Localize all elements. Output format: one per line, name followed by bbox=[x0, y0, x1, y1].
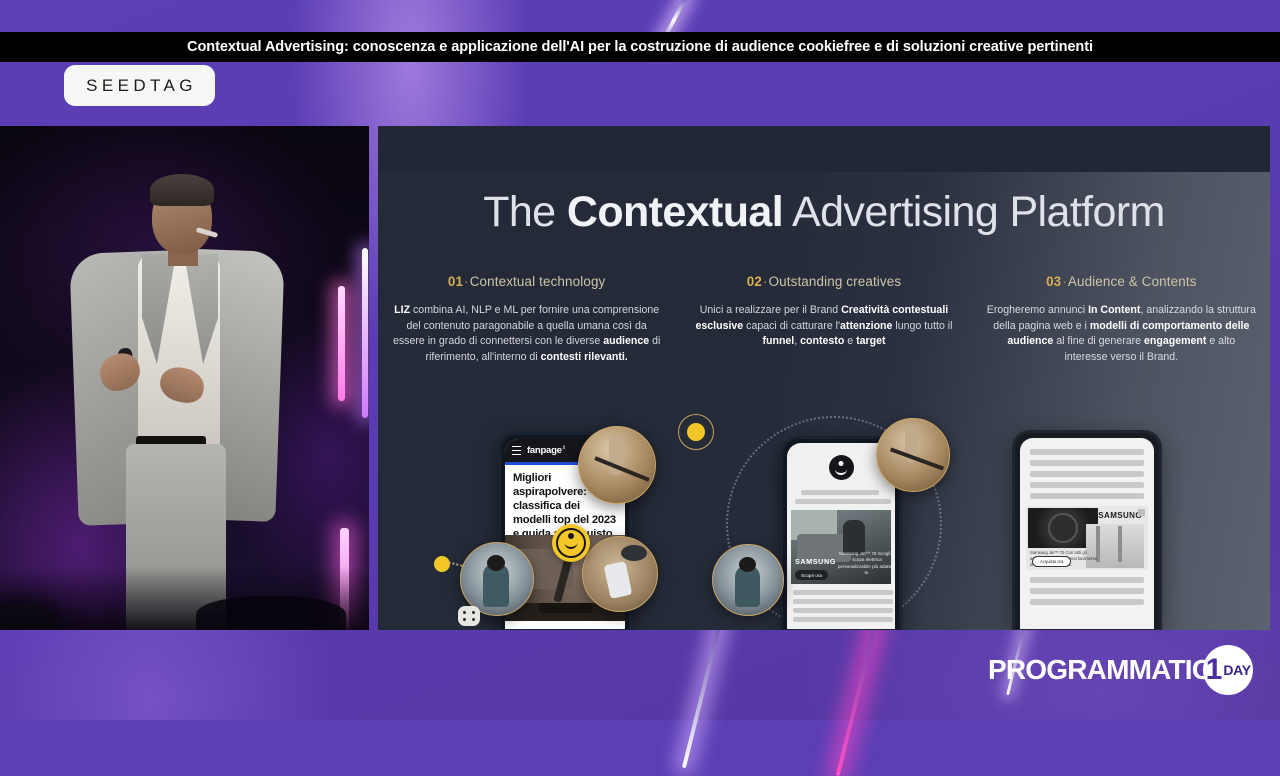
stage-floor-shadow bbox=[0, 566, 369, 630]
publisher-logo-text: fanpage.it bbox=[527, 445, 565, 456]
context-bubble-person-cleaning-2 bbox=[712, 544, 784, 616]
slide-title-bold: Contextual bbox=[567, 188, 783, 236]
content-skeleton-line bbox=[1030, 493, 1144, 499]
seedtag-logo-text: SEEDTAG bbox=[82, 76, 197, 96]
ad-cta-button[interactable]: Acquista ora bbox=[1032, 556, 1071, 567]
slide-column-2: 02·Outstanding creatives Unici a realizz… bbox=[675, 274, 972, 394]
ad-vacuum-shape-b bbox=[1118, 526, 1122, 562]
programmatic-day-logo: PROGRAMMATIC 1 DAY bbox=[988, 648, 1253, 692]
slide-column-3-number: 03 bbox=[1046, 274, 1061, 289]
slide-column-3-heading: 03·Audience & Contents bbox=[987, 274, 1256, 289]
slide-column-1-number: 01 bbox=[448, 274, 463, 289]
content-skeleton-line bbox=[1030, 599, 1144, 605]
ad-person-shape bbox=[843, 520, 865, 554]
slide-column-2-heading: 02·Outstanding creatives bbox=[689, 274, 958, 289]
presentation-slide-panel[interactable]: The Contextual Advertising Platform 01·C… bbox=[378, 126, 1270, 630]
photo-vacuum-head-shape bbox=[539, 603, 593, 613]
slide-content: The Contextual Advertising Platform 01·C… bbox=[378, 126, 1270, 630]
speaker-figure bbox=[0, 126, 369, 630]
content-skeleton-line bbox=[1030, 482, 1144, 488]
bubble-robot-vacuum-shape bbox=[621, 545, 647, 561]
slide-column-3-title: Audience & Contents bbox=[1068, 274, 1197, 289]
neon-streak-bottom-white-1 bbox=[682, 622, 722, 769]
neon-streak-bottom-pink bbox=[836, 620, 879, 776]
slide-column-1-separator: · bbox=[463, 274, 470, 289]
ad-brand-logo: SAMSUNG bbox=[795, 557, 836, 566]
content-skeleton-line bbox=[1030, 577, 1144, 583]
bubble-smartphone-shape bbox=[604, 561, 633, 599]
event-logo-number: 1 bbox=[1206, 653, 1223, 687]
seedtag-smiley-icon bbox=[552, 524, 590, 562]
slide-column-1-heading: 01·Contextual technology bbox=[392, 274, 661, 289]
context-bubble-robot-vacuum-app bbox=[582, 536, 658, 612]
context-bubble-vacuum-floor-2 bbox=[876, 418, 950, 492]
phone-mockup-outstanding-creatives: SAMSUNG Samsung Jet™ 75 Scegli la scopa … bbox=[708, 414, 970, 630]
event-logo-word: PROGRAMMATIC bbox=[988, 654, 1211, 686]
in-content-ad-unit-3[interactable]: SAMSUNG Samsung Jet™ 75 Con tutti gli ac… bbox=[1026, 506, 1148, 570]
bubble-person-hair-shape bbox=[739, 557, 756, 572]
phone-3-screen: SAMSUNG Samsung Jet™ 75 Con tutti gli ac… bbox=[1020, 438, 1154, 629]
seedtag-smiley-icon-small bbox=[829, 455, 854, 480]
seedtag-logo: SEEDTAG bbox=[64, 65, 215, 106]
slide-column-2-title: Outstanding creatives bbox=[769, 274, 902, 289]
content-skeleton-line bbox=[801, 490, 879, 495]
slide-column-3: 03·Audience & Contents Erogheremo annunc… bbox=[973, 274, 1270, 394]
content-skeleton-line bbox=[793, 617, 893, 622]
content-skeleton-line bbox=[1030, 588, 1144, 594]
content-skeleton-line bbox=[1030, 471, 1144, 477]
publisher-name: fanpage bbox=[527, 445, 562, 456]
bubble-person-hair-shape bbox=[487, 555, 505, 571]
ad-brand-logo: SAMSUNG bbox=[1098, 511, 1142, 520]
publisher-tld: .it bbox=[562, 445, 565, 451]
hamburger-menu-icon[interactable] bbox=[512, 446, 521, 456]
ad-copy-text: Samsung Jet™ 75 Scegli la scopa elettric… bbox=[837, 551, 891, 576]
slide-columns: 01·Contextual technology LIZ combina AI,… bbox=[378, 274, 1270, 394]
content-skeleton-line bbox=[793, 590, 893, 595]
slide-column-2-number: 02 bbox=[747, 274, 762, 289]
phone-mockup-audience-contents: SAMSUNG Samsung Jet™ 75 Con tutti gli ac… bbox=[990, 426, 1220, 630]
ad-cta-button[interactable]: Scopri ora bbox=[795, 570, 828, 580]
slide-column-1: 01·Contextual technology LIZ combina AI,… bbox=[378, 274, 675, 394]
content-skeleton-line bbox=[1030, 449, 1144, 455]
broadcast-title-bar: Contextual Advertising: conoscenza e app… bbox=[0, 32, 1280, 62]
ad-choices-icon[interactable] bbox=[1138, 509, 1145, 516]
speaker-hair bbox=[150, 174, 214, 206]
slide-title-post: Advertising Platform bbox=[783, 188, 1165, 236]
in-content-ad-unit[interactable]: SAMSUNG Samsung Jet™ 75 Scegli la scopa … bbox=[791, 510, 891, 584]
seedtag-smiley-face bbox=[556, 528, 586, 558]
content-skeleton-line bbox=[795, 499, 891, 504]
phone-frame-3: SAMSUNG Samsung Jet™ 75 Con tutti gli ac… bbox=[1012, 430, 1162, 630]
speaker-video-panel[interactable] bbox=[0, 126, 369, 630]
event-logo-badge: 1 DAY bbox=[1203, 645, 1253, 695]
slide-column-1-body: LIZ combina AI, NLP e ML per fornire una… bbox=[392, 303, 661, 366]
slide-column-2-separator: · bbox=[762, 274, 769, 289]
content-skeleton-line bbox=[793, 599, 893, 604]
dice-icon bbox=[458, 606, 480, 626]
content-skeleton-line bbox=[1030, 460, 1144, 466]
slide-title-pre: The bbox=[483, 188, 567, 236]
context-bubble-vacuum-floor bbox=[578, 426, 656, 504]
slide-column-3-separator: · bbox=[1061, 274, 1068, 289]
broadcast-title-text: Contextual Advertising: conoscenza e app… bbox=[187, 39, 1093, 55]
event-logo-suffix: DAY bbox=[1223, 662, 1250, 678]
slide-title: The Contextual Advertising Platform bbox=[378, 188, 1270, 237]
slide-column-2-body: Unici a realizzare per il Brand Creativi… bbox=[689, 303, 958, 350]
slide-column-3-body: Erogheremo annunci In Content, analizzan… bbox=[987, 303, 1256, 366]
phone-mockup-contextual-technology: fanpage.it Migliori aspirapolvere: class… bbox=[430, 414, 702, 630]
context-bubble-person-cleaning bbox=[460, 542, 534, 616]
slide-column-1-title: Contextual technology bbox=[470, 274, 606, 289]
content-skeleton-line bbox=[793, 608, 893, 613]
